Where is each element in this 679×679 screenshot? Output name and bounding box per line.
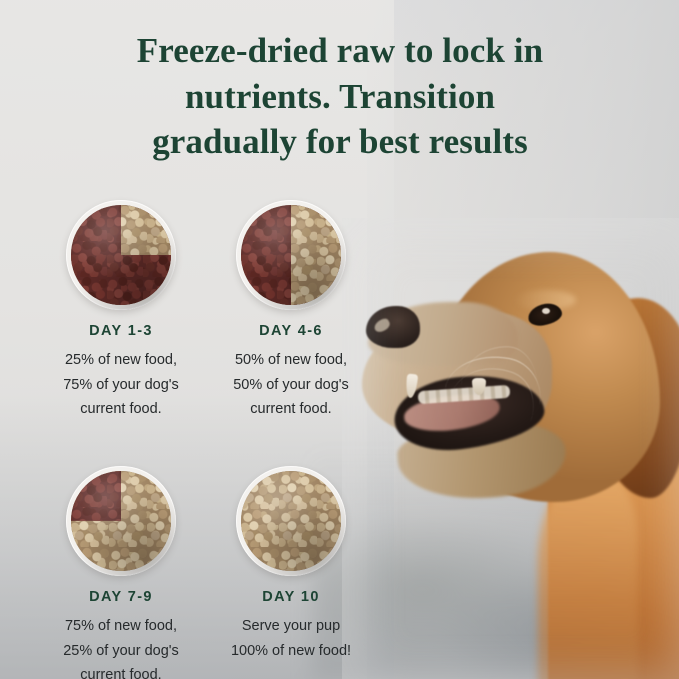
- headline-line-2: nutrients. Transition: [60, 74, 620, 120]
- step-description: Serve your pup 100% of new food!: [206, 614, 376, 663]
- bowl-contents: [241, 205, 341, 305]
- desc-line-1: 50% of new food,: [206, 348, 376, 373]
- step-day-4-6: DAY 4-6 50% of new food, 50% of your dog…: [206, 200, 376, 422]
- bowl-day-7-9: [66, 466, 176, 576]
- row-spacer: [36, 422, 376, 466]
- bowl-rim: [66, 466, 176, 576]
- day-label: DAY 10: [206, 589, 376, 605]
- dog-photo: [352, 228, 679, 679]
- desc-line-3: current food.: [206, 397, 376, 422]
- step-description: 25% of new food, 75% of your dog's curre…: [36, 348, 206, 422]
- step-day-10: DAY 10 Serve your pup 100% of new food!: [206, 466, 376, 679]
- desc-line-3: current food.: [36, 663, 206, 679]
- bowl-contents: [71, 471, 171, 571]
- headline-line-3: gradually for best results: [60, 119, 620, 165]
- desc-line-1: Serve your pup: [206, 614, 376, 639]
- step-day-1-3: DAY 1-3 25% of new food, 75% of your dog…: [36, 200, 206, 422]
- day-label: DAY 4-6: [206, 323, 376, 339]
- desc-line-2: 50% of your dog's: [206, 373, 376, 398]
- new-food-kibble: [241, 471, 341, 571]
- bowl-contents: [241, 471, 341, 571]
- day-label: DAY 1-3: [36, 323, 206, 339]
- bowl-rim: [236, 200, 346, 310]
- headline-line-1: Freeze-dried raw to lock in: [60, 28, 620, 74]
- schedule-row-bottom: DAY 7-9 75% of new food, 25% of your dog…: [36, 466, 376, 679]
- page-title: Freeze-dried raw to lock in nutrients. T…: [60, 28, 620, 165]
- bowl-rim: [236, 466, 346, 576]
- bowl-contents: [71, 205, 171, 305]
- schedule-row-top: DAY 1-3 25% of new food, 75% of your dog…: [36, 200, 376, 422]
- desc-line-1: 75% of new food,: [36, 614, 206, 639]
- bowl-day-4-6: [236, 200, 346, 310]
- desc-line-2: 75% of your dog's: [36, 373, 206, 398]
- desc-line-1: 25% of new food,: [36, 348, 206, 373]
- bowl-day-10: [236, 466, 346, 576]
- step-day-7-9: DAY 7-9 75% of new food, 25% of your dog…: [36, 466, 206, 679]
- dog-eye-highlight: [542, 308, 550, 314]
- desc-line-2: 25% of your dog's: [36, 639, 206, 664]
- transition-schedule: DAY 1-3 25% of new food, 75% of your dog…: [36, 200, 376, 679]
- step-description: 50% of new food, 50% of your dog's curre…: [206, 348, 376, 422]
- infographic-canvas: Freeze-dried raw to lock in nutrients. T…: [0, 0, 679, 679]
- step-description: 75% of new food, 25% of your dog's curre…: [36, 614, 206, 679]
- bowl-day-1-3: [66, 200, 176, 310]
- day-label: DAY 7-9: [36, 589, 206, 605]
- desc-line-2: 100% of new food!: [206, 639, 376, 664]
- desc-line-3: current food.: [36, 397, 206, 422]
- bowl-rim: [66, 200, 176, 310]
